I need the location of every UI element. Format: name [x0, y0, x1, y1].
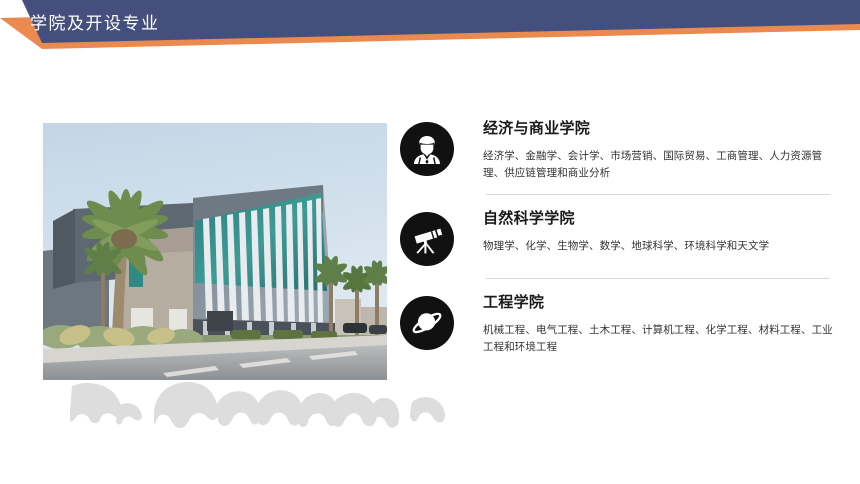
- page-title: 学院及开设专业: [30, 9, 160, 34]
- planet-icon: [400, 296, 454, 350]
- college-list: 经济与商业学院 经济学、金融学、会计学、市场营销、国际贸易、工商管理、人力资源管…: [400, 118, 840, 368]
- college-title: 自然科学学院: [483, 210, 840, 229]
- cloud-decoration: [70, 382, 450, 452]
- college-item-natural-science: 自然科学学院 物理学、化学、生物学、数学、地球科学、环境科学和天文学: [400, 194, 840, 278]
- college-text-block: 经济与商业学院 经济学、金融学、会计学、市场营销、国际贸易、工商管理、人力资源管…: [454, 118, 840, 182]
- telescope-icon: [400, 212, 454, 266]
- college-majors: 物理学、化学、生物学、数学、地球科学、环境科学和天文学: [483, 238, 840, 255]
- college-majors: 机械工程、电气工程、土木工程、计算机工程、化学工程、材料工程、工业工程和环境工程: [483, 322, 840, 356]
- college-item-engineering: 工程学院 机械工程、电气工程、土木工程、计算机工程、化学工程、材料工程、工业工程…: [400, 278, 840, 368]
- college-item-business: 经济与商业学院 经济学、金融学、会计学、市场营销、国际贸易、工商管理、人力资源管…: [400, 118, 840, 194]
- college-title: 工程学院: [483, 294, 840, 313]
- campus-building-photo: [43, 123, 387, 380]
- businessperson-icon: [400, 122, 454, 176]
- college-title: 经济与商业学院: [483, 120, 840, 139]
- slide-canvas: 学院及开设专业: [0, 0, 860, 484]
- college-text-block: 工程学院 机械工程、电气工程、土木工程、计算机工程、化学工程、材料工程、工业工程…: [454, 292, 840, 356]
- college-majors: 经济学、金融学、会计学、市场营销、国际贸易、工商管理、人力资源管理、供应链管理和…: [483, 148, 840, 182]
- college-text-block: 自然科学学院 物理学、化学、生物学、数学、地球科学、环境科学和天文学: [454, 208, 840, 255]
